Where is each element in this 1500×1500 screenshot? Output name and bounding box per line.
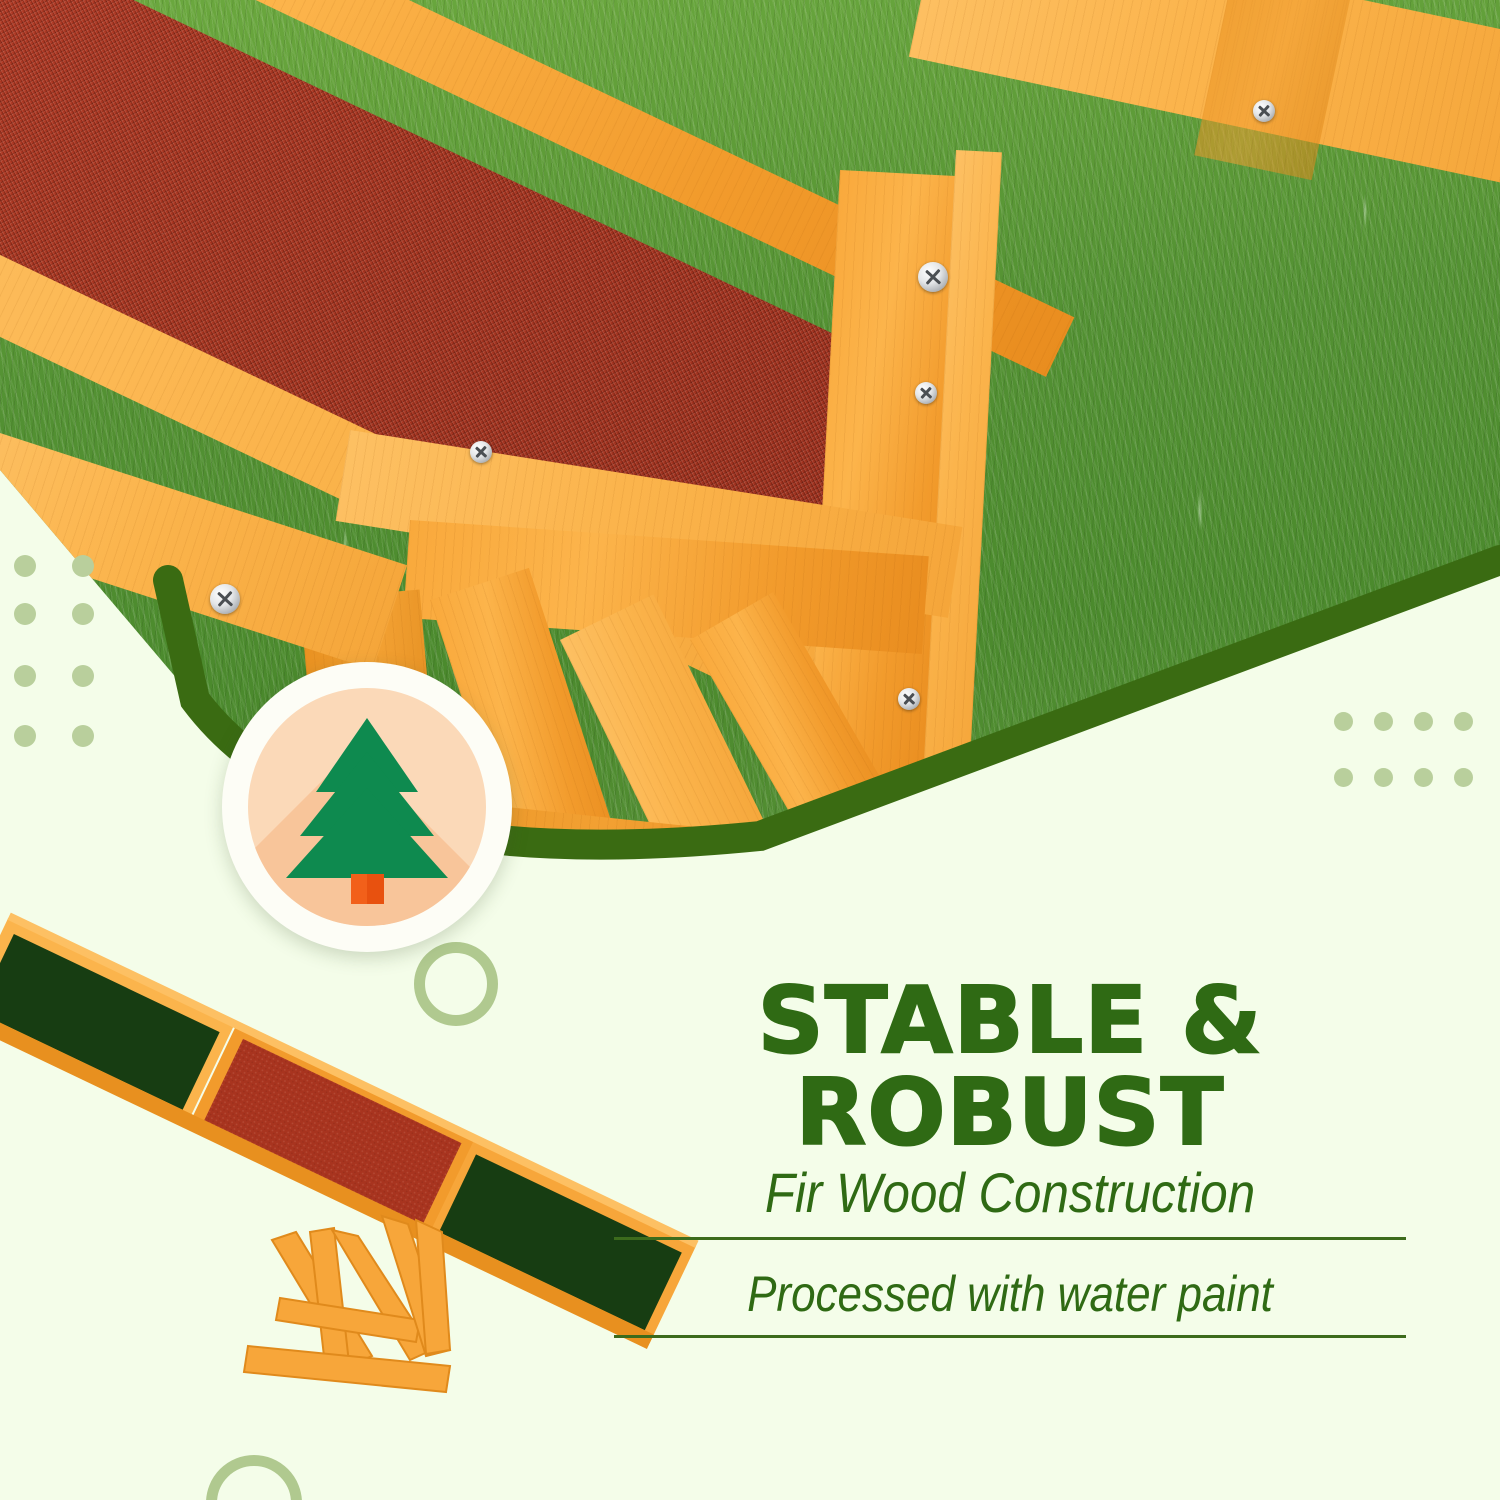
screw-icon (470, 441, 492, 463)
product-closeup-photo (0, 0, 1500, 880)
a-frame-support-base (244, 1216, 450, 1392)
decor-dot (1414, 768, 1433, 787)
decor-dot (1334, 768, 1353, 787)
screw-icon (918, 262, 948, 292)
decor-dot (14, 725, 36, 747)
feature-line-2: Processed with water paint (614, 1265, 1406, 1338)
decor-dot (14, 665, 36, 687)
decor-dot (1374, 712, 1393, 731)
decor-dot (1454, 768, 1473, 787)
decor-dot (1334, 712, 1353, 731)
screw-icon (1253, 100, 1275, 122)
decor-dot (1414, 712, 1433, 731)
decor-dot (72, 603, 94, 625)
marketing-banner: STABLE & ROBUST Fir Wood Construction Pr… (0, 0, 1500, 1500)
page-title: STABLE & ROBUST (560, 975, 1460, 1159)
screw-icon (898, 688, 920, 710)
decorative-dot-grid-left (14, 555, 130, 747)
screw-icon (915, 382, 937, 404)
screw-icon (210, 584, 240, 614)
decor-dot (14, 555, 36, 577)
decor-dot (72, 555, 94, 577)
decorative-dot-grid-right (1334, 712, 1494, 824)
feature-line-1: Fir Wood Construction (614, 1160, 1406, 1240)
decor-dot (1454, 712, 1473, 731)
decor-dot (14, 603, 36, 625)
decor-dot (72, 665, 94, 687)
decor-dot (72, 725, 94, 747)
decor-dot (1374, 768, 1393, 787)
